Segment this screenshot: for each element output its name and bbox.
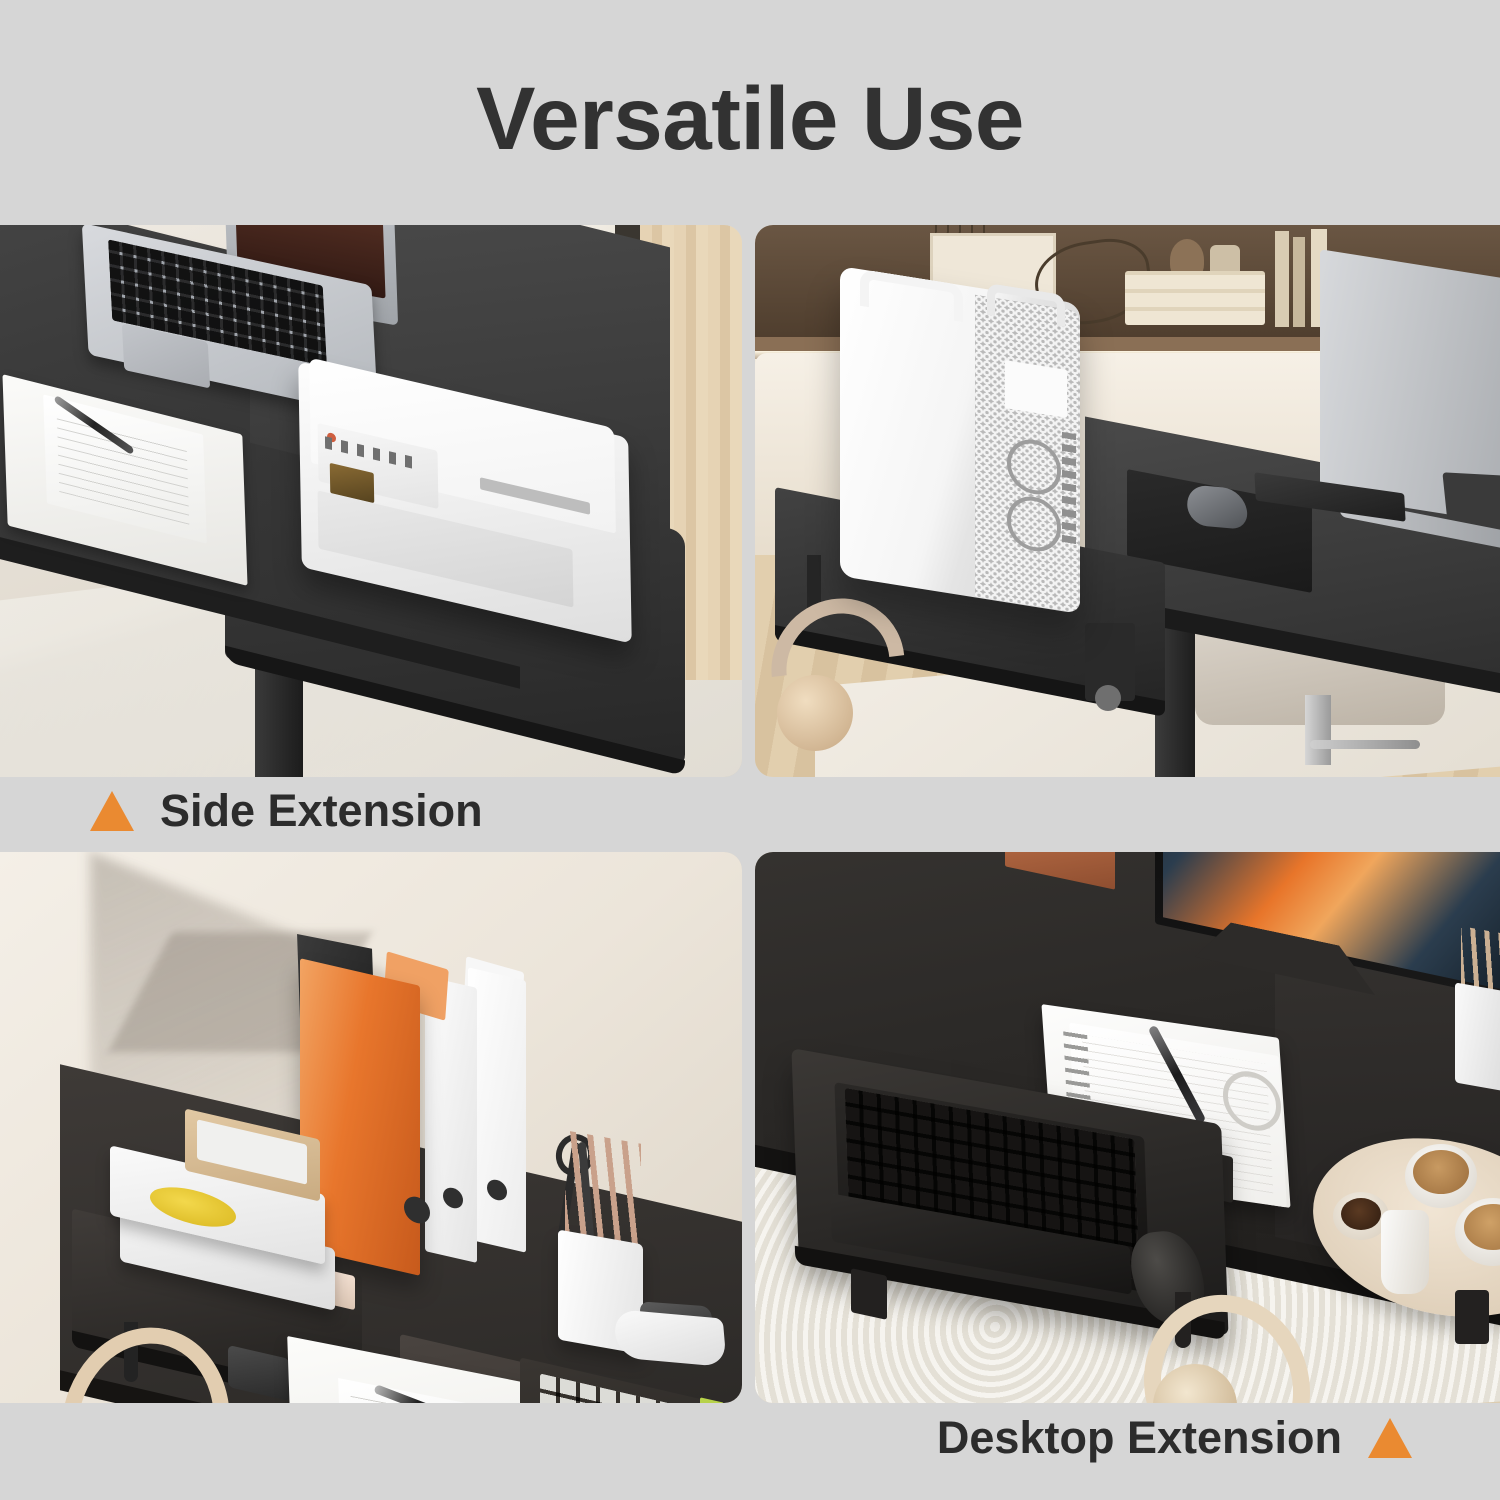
caption-side-extension: Side Extension <box>90 788 483 833</box>
pencil-cup <box>1455 982 1500 1091</box>
versatile-use-graphic: Versatile Use <box>0 0 1500 1500</box>
page-title: Versatile Use <box>0 72 1500 165</box>
book <box>1293 237 1305 327</box>
panel-top-right-side-extension-pc-tower <box>755 225 1500 777</box>
panel-bottom-right-desktop-extension-keyboard-tray <box>755 852 1500 1403</box>
pc-tower-label <box>1005 360 1067 418</box>
milk-jug <box>1381 1210 1429 1294</box>
scene-pc-tower-on-side-extension <box>755 225 1500 777</box>
coffee-beans <box>1341 1198 1381 1230</box>
caption-desktop-extension: Desktop Extension <box>937 1415 1412 1460</box>
headphones-earcup <box>777 675 853 751</box>
coffee-liquid <box>1413 1150 1469 1194</box>
clamp-knob <box>1095 685 1121 711</box>
book <box>1275 231 1289 327</box>
panel-bottom-left-side-extension-organizers <box>0 852 742 1403</box>
scene-keyboard-tray-extension <box>755 852 1500 1403</box>
triangle-up-icon <box>90 791 134 831</box>
caption-label: Side Extension <box>160 788 483 833</box>
triangle-up-icon <box>1368 1418 1412 1458</box>
pc-tower-ports <box>1062 432 1076 544</box>
keyboard-tray-support <box>851 1268 887 1320</box>
office-chair-base <box>1210 730 1430 777</box>
white-magazine-file <box>425 976 477 1263</box>
book-stack <box>1125 271 1265 325</box>
desk-clamp <box>1455 1290 1489 1344</box>
scene-desk-organizers-on-side-extension <box>0 852 742 1403</box>
panel-top-left-side-extension-printer <box>0 225 742 777</box>
caption-label: Desktop Extension <box>937 1415 1342 1460</box>
scene-printer-on-side-extension <box>0 225 742 777</box>
